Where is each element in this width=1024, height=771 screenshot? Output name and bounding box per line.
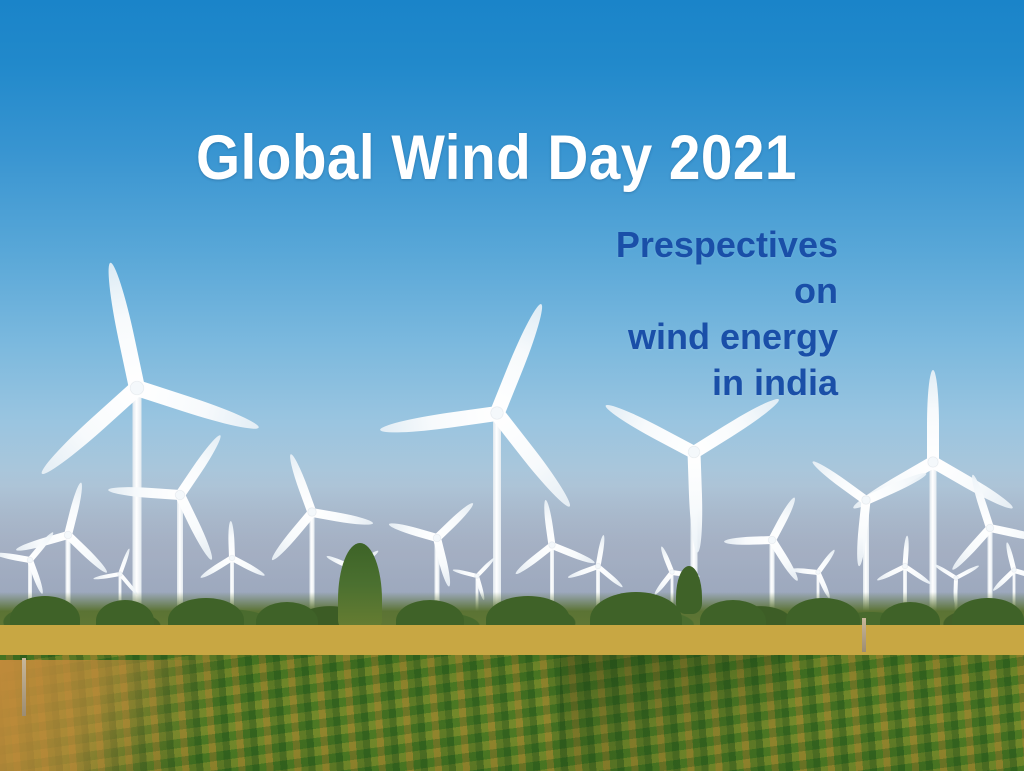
page-subtitle: Prespectives on wind energy in india <box>616 222 838 406</box>
turbine-hub <box>862 496 870 504</box>
turbine-hub <box>475 574 479 578</box>
turbine-hub <box>816 570 820 574</box>
turbine-hub <box>434 535 441 542</box>
turbine-hub <box>65 532 72 539</box>
turbine-hub <box>308 508 316 516</box>
turbine-hub <box>131 382 144 395</box>
fence-post-left <box>22 658 26 716</box>
turbine-hub <box>987 525 994 532</box>
turbine-hub <box>176 491 185 500</box>
wind-day-banner: Global Wind Day 2021 Prespectives on win… <box>0 0 1024 771</box>
turbine-hub <box>1012 568 1016 572</box>
turbine-hub <box>118 572 122 576</box>
turbine-mast <box>133 388 142 618</box>
turbine-hub <box>670 570 674 574</box>
fence-post-mid <box>862 618 866 652</box>
turbine-hub <box>596 564 601 569</box>
soil-patch-left <box>0 660 250 771</box>
turbine-hub <box>954 576 958 580</box>
turbine-hub <box>903 564 908 569</box>
turbine-hub <box>230 556 235 561</box>
page-title: Global Wind Day 2021 <box>196 127 797 190</box>
turbine-hub <box>28 558 33 563</box>
turbine-hub <box>769 537 776 544</box>
turbine-hub <box>928 457 938 467</box>
field-shadow <box>560 655 780 771</box>
turbine-hub <box>491 407 503 419</box>
turbine-hub <box>689 447 700 458</box>
turbine-hub <box>549 542 555 548</box>
